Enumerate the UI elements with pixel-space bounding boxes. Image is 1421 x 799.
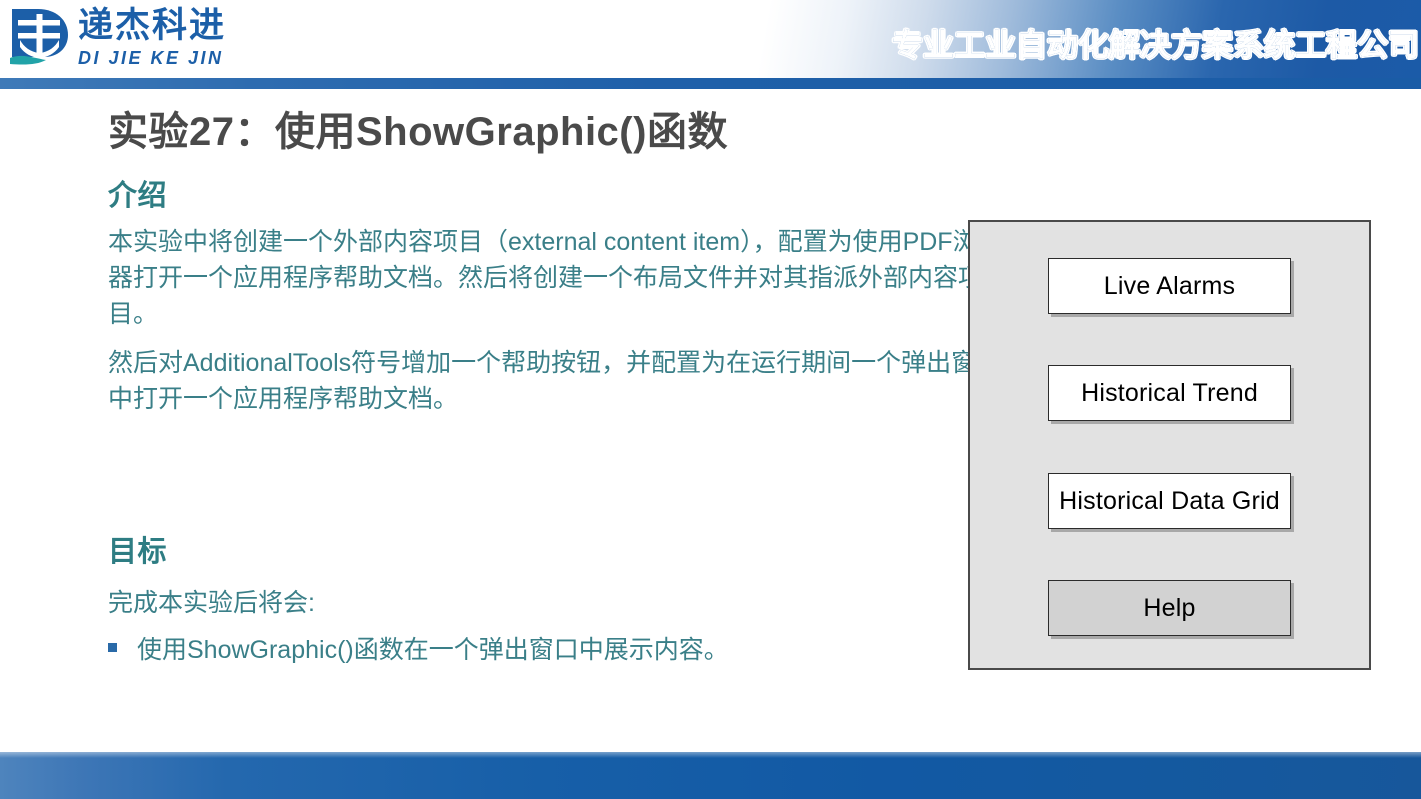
section-heading-goal: 目标: [108, 528, 167, 570]
live-alarms-button[interactable]: Live Alarms: [1048, 258, 1291, 314]
dijiekejin-logo-icon: [8, 7, 72, 69]
list-item: 使用ShowGraphic()函数在一个弹出窗口中展示内容。: [108, 630, 729, 666]
hmi-screenshot-panel: Live Alarms Historical Trend Historical …: [968, 220, 1371, 670]
goal-lead-text: 完成本实验后将会:: [108, 583, 315, 619]
header-banner-text: 专业工业自动化解决方案系统工程公司: [892, 30, 1419, 61]
intro-paragraph-2: 然后对AdditionalTools符号增加一个帮助按钮，并配置为在运行期间一个…: [108, 345, 1008, 417]
header-banner-gradient: 专业工业自动化解决方案系统工程公司: [560, 0, 1421, 78]
historical-data-grid-button[interactable]: Historical Data Grid: [1048, 473, 1291, 529]
logo-chinese-name: 递杰科进: [78, 8, 226, 45]
header-blue-rule: [0, 78, 1421, 89]
company-logo: 递杰科进 DI JIE KE JIN: [8, 4, 238, 74]
logo-english-name: DI JIE KE JIN: [78, 48, 224, 69]
page-header: 专业工业自动化解决方案系统工程公司 递杰科进 DI JIE KE JIN: [0, 0, 1421, 78]
section-heading-intro: 介绍: [108, 172, 167, 214]
historical-trend-button[interactable]: Historical Trend: [1048, 365, 1291, 421]
goal-bullet-text: 使用ShowGraphic()函数在一个弹出窗口中展示内容。: [137, 630, 729, 666]
footer-bar: [0, 752, 1421, 799]
page-title: 实验27：使用ShowGraphic()函数: [108, 99, 728, 157]
help-button[interactable]: Help: [1048, 580, 1291, 636]
bullet-square-icon: [108, 643, 117, 652]
intro-paragraph-1: 本实验中将创建一个外部内容项目（external content item），配…: [108, 224, 1008, 332]
